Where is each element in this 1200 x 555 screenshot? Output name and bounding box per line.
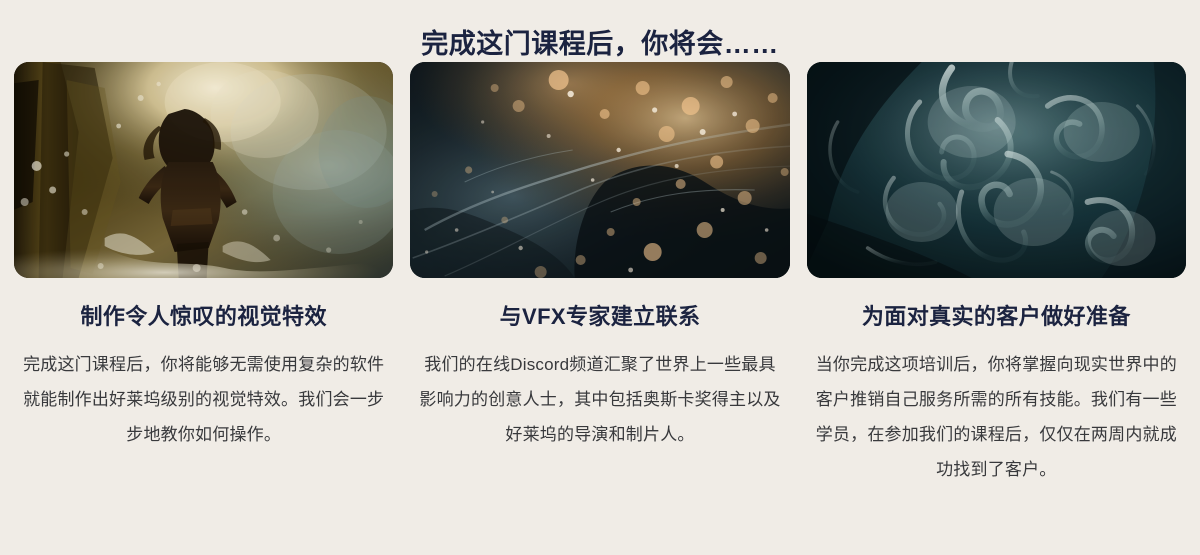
page-title: 完成这门课程后，你将会……: [0, 0, 1200, 62]
benefit-card-body: 我们的在线Discord频道汇聚了世界上一些最具影响力的创意人士，其中包括奥斯卡…: [410, 347, 789, 452]
teal-smoke-swirls-still: [807, 62, 1186, 278]
warrior-running-through-water-vfx-still: [14, 62, 393, 278]
benefits-section: 完成这门课程后，你将会……: [0, 0, 1200, 555]
benefit-card-title: 与VFX专家建立联系: [500, 304, 701, 330]
benefit-card: 与VFX专家建立联系 我们的在线Discord频道汇聚了世界上一些最具影响力的创…: [410, 62, 789, 487]
benefit-card-body: 当你完成这项培训后，你将掌握向现实世界中的客户推销自己服务所需的所有技能。我们有…: [807, 347, 1186, 487]
golden-particle-nebula-still: [410, 62, 789, 278]
benefit-card-list: 制作令人惊叹的视觉特效 完成这门课程后，你将能够无需使用复杂的软件就能制作出好莱…: [0, 62, 1200, 487]
benefit-card-title: 为面对真实的客户做好准备: [862, 304, 1131, 330]
benefit-card-title: 制作令人惊叹的视觉特效: [80, 304, 326, 330]
benefit-card: 为面对真实的客户做好准备 当你完成这项培训后，你将掌握向现实世界中的客户推销自己…: [807, 62, 1186, 487]
benefit-card-body: 完成这门课程后，你将能够无需使用复杂的软件就能制作出好莱坞级别的视觉特效。我们会…: [14, 347, 393, 452]
benefit-card: 制作令人惊叹的视觉特效 完成这门课程后，你将能够无需使用复杂的软件就能制作出好莱…: [14, 62, 393, 487]
